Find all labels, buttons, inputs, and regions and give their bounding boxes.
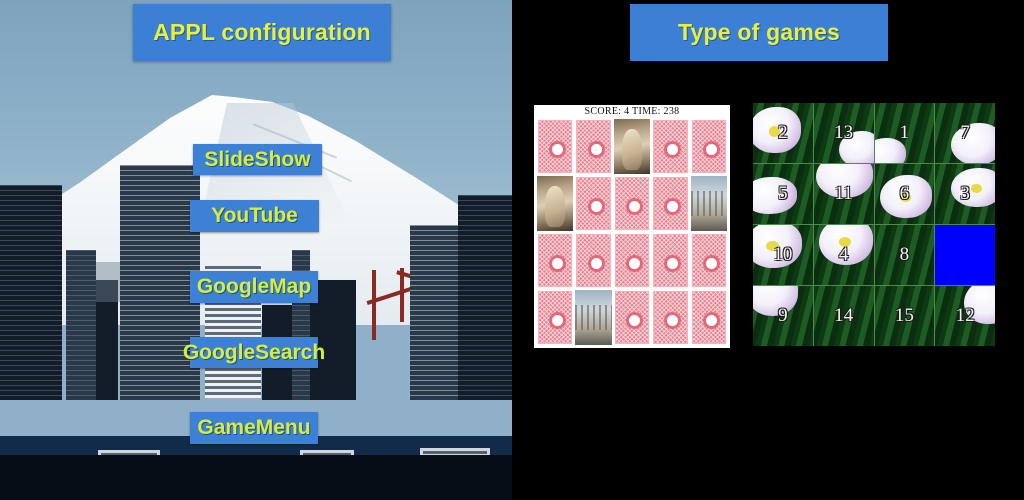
sliding-number-puzzle-thumbnail[interactable]: 213175116310489141512 [753,103,995,346]
puzzle-grid[interactable]: 213175116310489141512 [753,103,995,346]
card-face-down[interactable] [537,290,573,345]
puzzle-tile-12[interactable]: 12 [935,286,995,346]
puzzle-tile-2[interactable]: 2 [753,103,813,163]
puzzle-tile-number: 1 [900,122,910,144]
card-face-down[interactable] [691,233,727,288]
puzzle-tile-number: 6 [900,183,910,205]
appl-configuration-panel: APPL configuration SlideShow YouTube Goo… [0,0,512,500]
puzzle-tile-number: 12 [956,305,975,327]
puzzle-tile-10[interactable]: 10 [753,225,813,285]
card-face-down[interactable] [652,119,688,174]
puzzle-tile-number: 11 [834,183,852,205]
card-face-down[interactable] [575,176,611,231]
appl-configuration-title-bar: APPL configuration [133,4,391,61]
menu-button-googlesearch-label: GoogleSearch [183,341,325,365]
menu-button-gamemenu-label: GameMenu [197,416,310,440]
building [0,185,62,400]
card-face-down[interactable] [652,176,688,231]
puzzle-tile-8[interactable]: 8 [875,225,935,285]
card-face-up-building[interactable] [691,176,727,231]
card-face-down[interactable] [614,290,650,345]
puzzle-tile-number: 9 [778,305,788,327]
menu-button-slideshow-label: SlideShow [204,148,310,172]
card-face-down[interactable] [537,119,573,174]
appl-configuration-title-text: APPL configuration [153,19,371,46]
type-of-games-title-text: Type of games [678,19,840,46]
puzzle-tile-14[interactable]: 14 [814,286,874,346]
card-face-down[interactable] [691,290,727,345]
puzzle-tile-number: 15 [895,305,914,327]
menu-button-googlemap-label: GoogleMap [197,275,311,299]
puzzle-tile-5[interactable]: 5 [753,164,813,224]
puzzle-tile-1[interactable]: 1 [875,103,935,163]
building [66,250,96,400]
type-of-games-title-bar: Type of games [630,4,888,61]
card-face-up-statue[interactable] [614,119,650,174]
crane-mast [372,270,376,340]
puzzle-tile-number: 13 [834,122,853,144]
card-face-down[interactable] [537,233,573,288]
card-face-down[interactable] [652,233,688,288]
puzzle-tile-4[interactable]: 4 [814,225,874,285]
card-face-down[interactable] [614,176,650,231]
puzzle-tile-number: 14 [834,305,853,327]
building [120,165,200,400]
card-face-down[interactable] [691,119,727,174]
menu-button-slideshow[interactable]: SlideShow [193,144,322,175]
puzzle-tile-number: 2 [778,122,788,144]
card-face-down[interactable] [614,233,650,288]
card-face-down[interactable] [575,119,611,174]
puzzle-tile-6[interactable]: 6 [875,164,935,224]
app-screen: APPL configuration SlideShow YouTube Goo… [0,0,1024,500]
card-face-down[interactable] [575,233,611,288]
card-face-up-building[interactable] [575,290,611,345]
puzzle-tile-7[interactable]: 7 [935,103,995,163]
menu-button-youtube-label: YouTube [211,204,298,228]
puzzle-tile-3[interactable]: 3 [935,164,995,224]
puzzle-tile-number: 3 [960,183,970,205]
menu-button-youtube[interactable]: YouTube [190,200,319,232]
puzzle-tile-15[interactable]: 15 [875,286,935,346]
puzzle-tile-number: 4 [839,244,849,266]
puzzle-tile-11[interactable]: 11 [814,164,874,224]
puzzle-tile-number: 5 [778,183,788,205]
pier-foreground [0,455,512,500]
type-of-games-panel: Type of games SCORE: 4 TIME: 238 2131751… [512,0,1024,500]
building [458,195,512,400]
puzzle-tile-13[interactable]: 13 [814,103,874,163]
card-game-status-line: SCORE: 4 TIME: 238 [534,105,730,118]
card-face-up-statue[interactable] [537,176,573,231]
iris-flower-image [753,107,801,154]
iris-flower-image [951,168,995,208]
card-face-down[interactable] [652,290,688,345]
puzzle-tile-9[interactable]: 9 [753,286,813,346]
memory-card-game-thumbnail[interactable]: SCORE: 4 TIME: 238 [534,105,730,348]
puzzle-tile-number: 7 [960,122,970,144]
puzzle-tile-number: 8 [900,244,910,266]
menu-button-gamemenu[interactable]: GameMenu [190,412,318,444]
puzzle-tile-number: 10 [773,244,792,266]
menu-button-googlemap[interactable]: GoogleMap [190,271,318,303]
puzzle-tile-blank[interactable] [935,225,995,285]
menu-button-googlesearch[interactable]: GoogleSearch [190,337,318,368]
card-grid[interactable] [537,119,727,345]
iris-flower-image [951,123,995,163]
building [410,225,458,400]
